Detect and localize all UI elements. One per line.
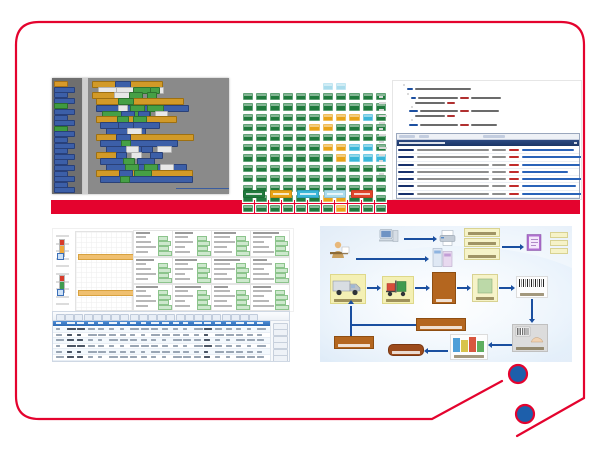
card-value-chip [158,278,172,283]
status-cell[interactable] [348,174,360,183]
table-column-header[interactable] [67,322,75,324]
status-cell[interactable] [269,204,281,213]
table-cell [173,334,180,336]
card-line [214,300,227,302]
table-cell [226,356,230,358]
toolbar-button[interactable] [185,314,194,321]
status-cell[interactable] [295,102,307,111]
status-cell[interactable] [242,204,254,213]
status-cell[interactable] [308,204,320,213]
arrow-erp-to-report [502,246,522,248]
card-line [175,290,188,292]
status-cell[interactable] [255,82,267,91]
card-line [175,305,190,307]
toolbar-button[interactable] [249,314,258,321]
status-cell[interactable] [362,113,374,122]
status-cell[interactable] [282,174,294,183]
table-column-header[interactable] [183,322,188,324]
table-cell [77,345,85,347]
status-cell[interactable] [282,82,294,91]
gantt-milestone-node[interactable] [57,289,64,296]
status-cell[interactable] [255,123,267,132]
schedule-card[interactable] [133,257,173,284]
table-cell [215,334,224,336]
toolbar-button[interactable] [102,314,111,321]
table-column-header[interactable] [120,322,127,324]
table-cell [204,351,208,353]
status-cell[interactable] [335,174,347,183]
code-token [471,124,497,126]
gantt-detail-cards[interactable] [133,230,291,310]
status-cell[interactable] [282,153,294,162]
status-cell[interactable] [255,102,267,111]
card-line [175,263,188,265]
status-cell[interactable] [308,82,320,91]
toolbar-button[interactable] [212,314,221,321]
status-cell[interactable] [375,194,387,203]
status-cell[interactable] [269,153,281,162]
node-label [392,351,420,354]
status-cell[interactable] [335,164,347,173]
card-line [136,236,146,238]
status-cell[interactable] [242,113,254,122]
log-segment [509,185,519,187]
status-cell[interactable] [308,92,320,101]
console-log-row[interactable] [397,169,579,176]
toolbar-button[interactable] [56,314,65,321]
card-title [214,259,240,261]
log-segment [522,171,568,173]
toolbar-button[interactable] [65,314,74,321]
status-cell[interactable] [282,143,294,152]
status-cell[interactable] [348,204,360,213]
status-cell[interactable] [362,82,374,91]
code-token [460,97,469,99]
status-cell[interactable] [335,102,347,111]
status-cell[interactable] [322,82,334,91]
gantt-milestone-node[interactable] [57,253,64,260]
table-cell [236,351,243,353]
toolbar-button[interactable] [139,314,148,321]
accent-dot-upper [509,365,527,383]
status-cell[interactable] [322,174,334,183]
status-cell[interactable] [348,133,360,142]
toolbar-button[interactable] [231,314,240,321]
order-detail-table[interactable] [52,311,290,362]
code-token [418,97,458,99]
palette-block[interactable] [54,187,75,193]
card-line [253,295,264,297]
code-text-area[interactable] [393,81,581,131]
status-cell[interactable] [255,143,267,152]
arrow-scan-to-putaway [492,344,512,346]
node-system-terminal [376,228,402,248]
status-cell[interactable] [362,204,374,213]
status-cell[interactable] [295,164,307,173]
console-log-row[interactable] [397,162,579,169]
arrowhead-icon [520,244,524,250]
table-cell [215,328,222,330]
card-line [175,251,190,253]
status-cell[interactable] [362,164,374,173]
status-cell[interactable] [269,113,281,122]
arrowhead-icon [425,256,429,262]
status-cell[interactable] [255,113,267,122]
status-cell[interactable] [242,174,254,183]
status-cell[interactable] [335,204,347,213]
card-line [253,236,272,238]
status-cell[interactable] [362,174,374,183]
status-cell[interactable] [322,153,334,162]
schedule-card[interactable] [172,257,212,284]
card-title [175,232,193,234]
log-segment [417,156,489,158]
status-cell[interactable] [255,164,267,173]
table-column-header[interactable] [162,322,169,324]
status-cell[interactable] [348,92,360,101]
table-body[interactable] [53,327,289,362]
table-cell [226,339,230,341]
table-cell [130,339,137,341]
table-cell [257,345,266,347]
status-cell[interactable] [295,82,307,91]
table-cell [56,328,60,330]
status-cell[interactable] [335,143,347,152]
status-cell[interactable] [255,92,267,101]
gantt-row-tick [56,265,69,267]
card-value-chip [158,305,172,310]
table-cell [236,334,243,336]
status-cell[interactable] [282,204,294,213]
console-title-bar [397,140,579,146]
table-column-header[interactable] [257,322,263,324]
status-cell[interactable] [269,102,281,111]
table-column-header[interactable] [226,322,231,324]
console-log-rows[interactable] [397,147,579,200]
status-cell[interactable] [348,123,360,132]
node-stacking-area [432,272,456,304]
status-cell[interactable] [242,153,254,162]
status-cell[interactable] [308,153,320,162]
status-cell[interactable] [242,133,254,142]
code-token [411,97,416,99]
close-icon[interactable] [574,142,577,144]
schedule-card[interactable] [211,257,251,284]
toolbar-button[interactable] [166,314,175,321]
schedule-card[interactable] [133,230,173,257]
code-token [407,88,413,90]
table-cell [151,334,160,336]
log-segment [417,164,489,166]
status-cell[interactable] [348,153,360,162]
blocks-palette[interactable] [52,78,83,194]
status-cell[interactable] [295,133,307,142]
card-line [136,295,151,297]
code-token [460,124,469,126]
card-line [136,241,151,243]
status-cell[interactable] [335,113,347,122]
table-cell [215,351,224,353]
schedule-card[interactable] [250,230,290,257]
card-line [175,241,193,243]
card-line [253,278,274,280]
table-cell [151,339,156,341]
side-action-button[interactable] [273,355,288,362]
grid-row-label [379,102,386,104]
gantt-grid-area[interactable] [75,231,133,311]
table-cell [173,339,182,341]
table-cell [120,328,124,330]
status-cell[interactable] [375,204,387,213]
blocks-workspace[interactable] [88,78,229,194]
log-segment [417,149,489,151]
table-row[interactable] [53,361,289,362]
toolbar-button[interactable] [111,314,120,321]
table-cell [162,345,168,347]
status-cell[interactable] [308,133,320,142]
table-column-header[interactable] [130,322,136,324]
table-column-header[interactable] [151,322,159,324]
card-line [136,263,146,265]
table-column-header[interactable] [247,322,254,324]
status-cell[interactable] [308,164,320,173]
status-cell[interactable] [269,123,281,132]
status-cell[interactable] [308,113,320,122]
table-cell [173,345,178,347]
status-cell[interactable] [242,82,254,91]
status-cell[interactable] [242,164,254,173]
status-cell[interactable] [322,102,334,111]
table-toolbar[interactable] [53,312,289,321]
console-log-row[interactable] [397,176,579,183]
table-cell [215,339,220,341]
code-token [415,115,445,117]
toolbar-button[interactable] [194,314,203,321]
console-log-row[interactable] [397,154,579,161]
workspace-block-socket[interactable] [120,176,130,183]
status-cell[interactable] [322,123,334,132]
table-cell [173,356,182,358]
log-segment [492,193,506,195]
status-cell[interactable] [295,123,307,132]
table-cell [162,339,166,341]
status-cell[interactable] [335,82,347,91]
status-cell[interactable] [375,82,387,91]
status-cell[interactable] [362,143,374,152]
arrowhead-icon [433,236,437,242]
output-console-window[interactable] [396,133,580,199]
toolbar-button[interactable] [120,314,129,321]
status-cell[interactable] [295,204,307,213]
status-cell[interactable] [242,92,254,101]
table-column-header[interactable] [236,322,244,324]
workspace-block[interactable] [96,98,184,105]
toolbar-button[interactable] [84,314,93,321]
toolbar-button[interactable] [176,314,185,321]
table-column-header[interactable] [194,322,202,324]
toolbar-button[interactable] [74,314,83,321]
table-cell [247,334,253,336]
table-cell [130,328,139,330]
gantt-timeline[interactable] [52,228,294,312]
status-cell[interactable] [242,102,254,111]
node-label [386,299,410,302]
status-cell[interactable] [282,123,294,132]
schedule-card[interactable] [250,257,290,284]
status-cell[interactable] [269,133,281,142]
status-cell[interactable] [282,113,294,122]
node-inbound-complete [388,344,424,356]
schedule-card[interactable] [172,230,212,257]
log-segment [417,178,489,180]
status-cell[interactable] [295,153,307,162]
node-label [516,347,544,350]
table-side-buttons[interactable] [270,321,289,361]
table-column-header[interactable] [88,322,94,324]
status-cell[interactable] [242,123,254,132]
status-cell[interactable] [322,92,334,101]
status-cell[interactable] [255,153,267,162]
status-cell[interactable] [295,92,307,101]
status-cell[interactable] [362,102,374,111]
table-cell [88,328,95,330]
schedule-card[interactable] [211,230,251,257]
arrowhead-icon [529,319,535,323]
toolbar-button[interactable] [130,314,139,321]
status-cell[interactable] [295,143,307,152]
table-cell [120,351,126,353]
table-cell [247,345,251,347]
table-cell [257,339,264,341]
schedule-card[interactable] [133,284,173,311]
schedule-sheet-panel[interactable] [52,228,292,360]
status-cell[interactable] [322,143,334,152]
toolbar-button[interactable] [93,314,102,321]
status-cell[interactable] [348,82,360,91]
toolbar-button[interactable] [222,314,231,321]
status-cell[interactable] [362,92,374,101]
status-cell[interactable] [348,143,360,152]
status-cell[interactable] [335,153,347,162]
table-cell [151,351,160,353]
card-line [253,246,269,248]
toolbar-button[interactable] [148,314,157,321]
console-log-row[interactable] [397,191,579,198]
schedule-card[interactable] [211,284,251,311]
code-editor-panel[interactable] [392,80,582,200]
table-cell [194,356,201,358]
card-line [175,236,188,238]
status-cell[interactable] [269,143,281,152]
table-cell [77,356,83,358]
table-column-header[interactable] [56,322,61,324]
status-cell[interactable] [269,82,281,91]
node-doc-list-3 [464,248,500,260]
status-cell[interactable] [282,92,294,101]
card-title [214,232,236,234]
barcode-icon [519,279,545,287]
status-cell[interactable] [308,143,320,152]
status-grid-row-labels [379,96,388,179]
toolbar-button[interactable] [240,314,249,321]
status-cell[interactable] [282,164,294,173]
console-log-row[interactable] [397,147,579,154]
status-cell[interactable] [322,133,334,142]
status-cell[interactable] [242,143,254,152]
status-cell[interactable] [295,174,307,183]
status-cell[interactable] [308,174,320,183]
log-segment [522,185,576,187]
status-cell[interactable] [335,92,347,101]
status-cell[interactable] [362,153,374,162]
status-cell[interactable] [335,123,347,132]
status-cell[interactable] [282,133,294,142]
status-cell[interactable] [308,102,320,111]
status-cell[interactable] [308,123,320,132]
table-cell [67,351,72,353]
status-cell[interactable] [348,164,360,173]
status-cell[interactable] [255,204,267,213]
status-cell[interactable] [255,133,267,142]
status-cell[interactable] [362,133,374,142]
status-cell[interactable] [362,123,374,132]
status-cell[interactable] [269,164,281,173]
table-header-row[interactable] [53,321,289,326]
workspace-block[interactable] [100,176,193,183]
table-cell [109,328,114,330]
table-column-header[interactable] [77,322,84,324]
status-cell[interactable] [322,113,334,122]
table-column-header[interactable] [109,322,117,324]
status-cell[interactable] [295,113,307,122]
status-cell[interactable] [375,184,387,193]
node-label [468,255,496,258]
status-cell[interactable] [335,133,347,142]
schedule-card[interactable] [250,284,290,311]
console-log-row[interactable] [397,183,579,190]
blocks-editor-panel[interactable] [52,78,229,194]
table-cell [183,356,191,358]
card-line [214,236,230,238]
status-grid-panel[interactable] [240,80,388,198]
table-column-header[interactable] [98,322,103,324]
status-cell[interactable] [348,113,360,122]
table-column-header[interactable] [173,322,179,324]
table-column-header[interactable] [141,322,146,324]
status-cell[interactable] [269,92,281,101]
table-cell [204,328,212,330]
node-label [420,326,462,329]
status-cell[interactable] [255,174,267,183]
table-cell [67,328,76,330]
scanner-icon [515,326,545,346]
table-cell [109,345,114,347]
toolbar-button[interactable] [157,314,166,321]
code-token [415,88,471,90]
status-cell[interactable] [348,102,360,111]
workspace-block-socket[interactable] [118,98,134,105]
toolbar-button[interactable] [203,314,212,321]
table-column-header[interactable] [215,322,221,324]
console-log-row[interactable] [397,198,579,200]
status-cell[interactable] [269,174,281,183]
status-cell[interactable] [322,164,334,173]
table-cell [130,356,137,358]
table-column-header[interactable] [204,322,211,324]
status-cell[interactable] [282,102,294,111]
schedule-card[interactable] [172,284,212,311]
status-cell[interactable] [322,204,334,213]
